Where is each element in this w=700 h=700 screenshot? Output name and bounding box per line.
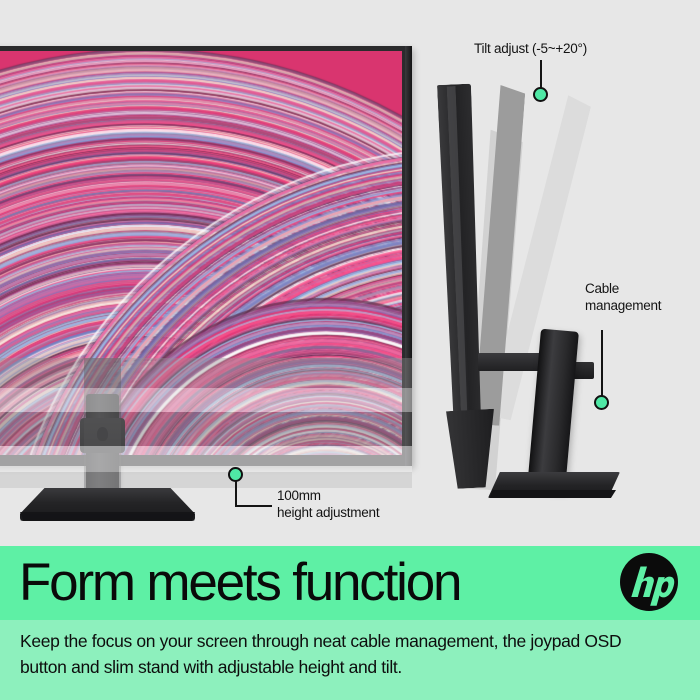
banner-headline: Form meets function xyxy=(19,550,460,616)
callout-dot-height xyxy=(228,467,243,482)
hp-logo-letters xyxy=(620,553,678,611)
banner-subtext: Keep the focus on your screen through ne… xyxy=(20,628,670,680)
cable-pass-through xyxy=(97,427,108,441)
callout-label-height: 100mm height adjustment xyxy=(277,488,379,521)
photo-area: Tilt adjust (-5~+20°) Cable management 1… xyxy=(0,0,700,546)
callout-dot-tilt xyxy=(533,87,548,102)
callout-dot-cable xyxy=(594,395,609,410)
callout-leader-height-h xyxy=(235,505,272,507)
hp-logo xyxy=(620,553,678,611)
wallpaper-canvas xyxy=(0,51,402,455)
callout-leader-tilt xyxy=(540,60,542,88)
callout-label-cable: Cable management xyxy=(585,281,661,314)
stand-base-edge-side xyxy=(490,490,616,498)
callout-label-tilt: Tilt adjust (-5~+20°) xyxy=(474,41,587,58)
stand-base-edge-front xyxy=(20,512,195,521)
product-image: Tilt adjust (-5~+20°) Cable management 1… xyxy=(0,0,700,700)
callout-leader-height-v xyxy=(235,481,237,506)
monitor-screen xyxy=(0,51,402,455)
monitor-front-view xyxy=(0,46,412,466)
height-ghost-band-5 xyxy=(0,472,412,488)
callout-leader-cable xyxy=(601,330,603,396)
